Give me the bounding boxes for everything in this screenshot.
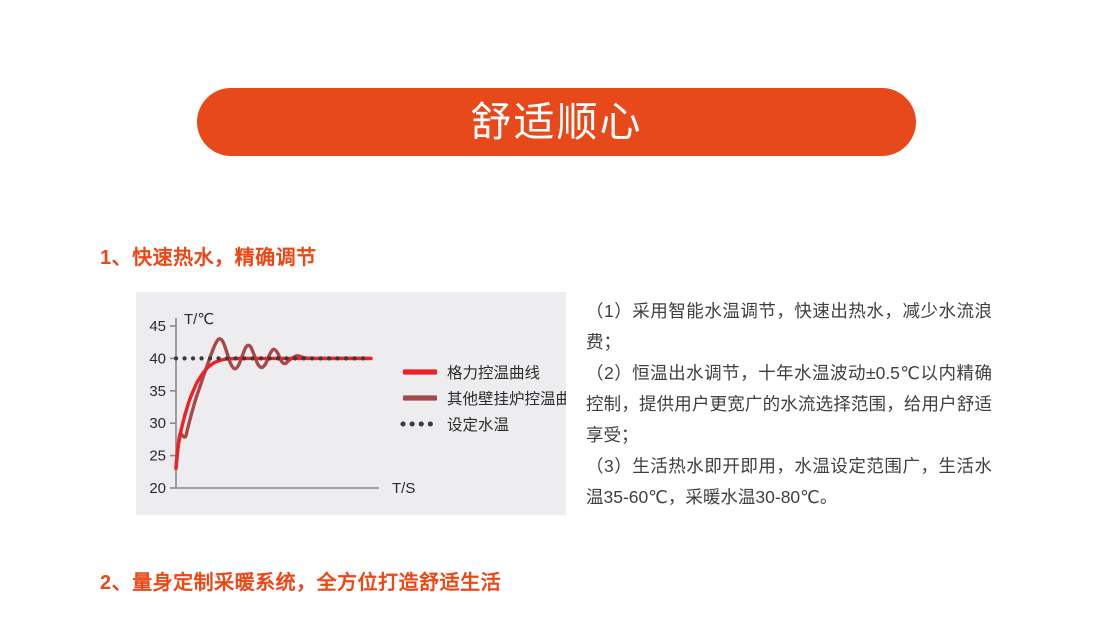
feature-description: （1）采用智能水温调节，快速出热水，减少水流浪费； （2）恒温出水调节，十年水温… [586,296,992,513]
section-heading-1: 1、快速热水，精确调节 [100,241,317,270]
legend-swatch-0 [403,369,437,374]
y-tick-label: 45 [149,318,166,335]
chart-svg: 454035302520 T/℃ T/S 格力控温曲线其他壁挂炉控温曲线设定水温 [136,292,566,515]
title-banner: 舒适顺心 [197,88,916,156]
description-line-3: （3）生活热水即开即用，水温设定范围广，生活水温35-60℃，采暖水温30-80… [586,451,992,513]
y-tick-label: 25 [149,448,166,465]
y-tick-label: 30 [149,415,166,432]
chart-series-layer [176,339,371,469]
chart-legend: 格力控温曲线其他壁挂炉控温曲线设定水温 [403,364,566,434]
temperature-control-chart: 454035302520 T/℃ T/S 格力控温曲线其他壁挂炉控温曲线设定水温 [136,292,566,515]
y-tick-label: 35 [149,383,166,400]
y-axis-label: T/℃ [184,311,214,328]
x-axis-label: T/S [392,480,415,497]
page-root: 舒适顺心 1、快速热水，精确调节 454035302520 T/℃ T/S 格力… [0,0,1100,644]
description-line-1: （1）采用智能水温调节，快速出热水，减少水流浪费； [586,296,992,358]
y-tick-label: 20 [149,480,166,497]
legend-label-0: 格力控温曲线 [447,364,540,382]
legend-label-1: 其他壁挂炉控温曲线 [447,390,566,408]
legend-label-2: 设定水温 [447,416,509,434]
y-axis-tick-labels: 454035302520 [149,318,166,497]
section-heading-2: 2、量身定制采暖系统，全方位打造舒适生活 [100,566,501,595]
description-line-2: （2）恒温出水调节，十年水温波动±0.5℃以内精确控制，提供用户更宽广的水流选择… [586,358,992,451]
legend-swatch-1 [403,395,437,400]
y-tick-label: 40 [149,350,166,367]
banner-title: 舒适顺心 [471,102,643,143]
